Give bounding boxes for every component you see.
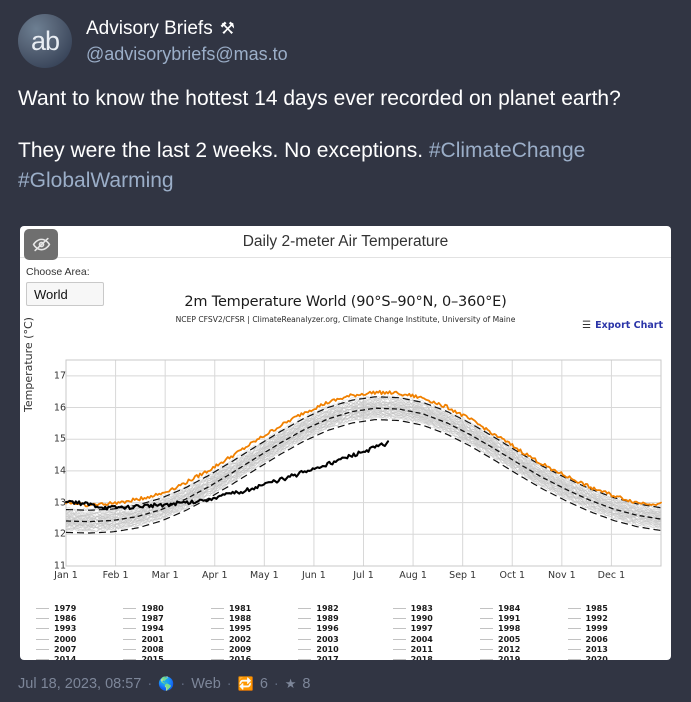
avatar[interactable]: ab <box>18 14 72 68</box>
globe-icon: 🌎 <box>158 676 174 692</box>
legend-label: 1998 <box>498 624 520 633</box>
x-tick-label: May 1 <box>250 570 279 581</box>
legend-label: 1993 <box>54 624 76 633</box>
legend-label: 2017 <box>316 655 338 660</box>
legend-item[interactable]: 2010 <box>298 645 392 654</box>
legend-swatch-icon <box>123 639 136 640</box>
legend-item[interactable]: 1982 <box>298 604 392 613</box>
account-handle[interactable]: @advisorybriefs@mas.to <box>86 41 288 67</box>
y-tick-label: 12 <box>40 529 66 540</box>
legend-swatch-icon <box>298 628 311 629</box>
legend-swatch-icon <box>568 659 581 660</box>
legend-label: 1995 <box>229 624 251 633</box>
legend-label: 2009 <box>229 645 251 654</box>
separator-1: · <box>147 676 152 692</box>
chart-title: 2m Temperature World (90°S–90°N, 0–360°E… <box>20 294 671 310</box>
legend-label: 2010 <box>316 645 338 654</box>
legend-item[interactable]: 2008 <box>123 645 210 654</box>
legend-label: 1989 <box>316 614 338 623</box>
legend-swatch-icon <box>36 608 49 609</box>
legend-swatch-icon <box>123 608 136 609</box>
legend-item[interactable]: 2016 <box>211 655 298 660</box>
legend-label: 1990 <box>411 614 433 623</box>
legend-label: 2019 <box>498 655 520 660</box>
legend-label: 1986 <box>54 614 76 623</box>
legend-item[interactable]: 2014 <box>36 655 123 660</box>
account-identity: Advisory Briefs ⚒ @advisorybriefs@mas.to <box>86 14 288 67</box>
legend-swatch-icon <box>568 618 581 619</box>
legend-item[interactable]: 2003 <box>298 635 392 644</box>
x-tick-label: Oct 1 <box>500 570 526 581</box>
legend-swatch-icon <box>123 659 136 660</box>
legend-label: 1983 <box>411 604 433 613</box>
legend-label: 2008 <box>141 645 163 654</box>
legend-label: 2007 <box>54 645 76 654</box>
legend-label: 1988 <box>229 614 251 623</box>
legend-item[interactable]: 1986 <box>36 614 123 623</box>
avatar-initials: ab <box>31 26 59 57</box>
legend-item[interactable]: 2004 <box>393 635 480 644</box>
chart-inner: Choose Area: World 2m Temperature World … <box>20 258 671 659</box>
chart-topbar-title: Daily 2-meter Air Temperature <box>243 233 449 251</box>
legend-item[interactable]: 1995 <box>211 624 298 633</box>
x-tick-label: Aug 1 <box>399 570 427 581</box>
legend-swatch-icon <box>480 608 493 609</box>
legend-swatch-icon <box>298 639 311 640</box>
chart-legend: 1979198019811982198319841985198619871988… <box>20 604 671 658</box>
y-tick-label: 14 <box>40 465 66 476</box>
legend-item[interactable]: 1988 <box>211 614 298 623</box>
legend-swatch-icon <box>480 639 493 640</box>
legend-item[interactable]: 1980 <box>123 604 210 613</box>
export-chart-label: Export Chart <box>595 320 663 331</box>
legend-swatch-icon <box>393 659 406 660</box>
legend-swatch-icon <box>36 649 49 650</box>
legend-item[interactable]: 2019 <box>480 655 567 660</box>
legend-swatch-icon <box>211 608 224 609</box>
legend-swatch-icon <box>211 618 224 619</box>
legend-swatch-icon <box>568 649 581 650</box>
hamburger-icon: ☰ <box>582 320 591 331</box>
legend-item[interactable]: 1997 <box>393 624 480 633</box>
separator-3: · <box>227 676 232 692</box>
legend-swatch-icon <box>298 618 311 619</box>
legend-item[interactable]: 1984 <box>480 604 567 613</box>
post-paragraph-2: They were the last 2 weeks. No exception… <box>18 136 675 196</box>
post-footer: Jul 18, 2023, 08:57 · 🌎 · Web · 🔁 6 · ★ … <box>18 676 310 692</box>
legend-item[interactable]: 2005 <box>480 635 567 644</box>
legend-label: 2015 <box>141 655 163 660</box>
legend-label: 1997 <box>411 624 433 633</box>
legend-item[interactable]: 1985 <box>568 604 655 613</box>
legend-item[interactable]: 1979 <box>36 604 123 613</box>
legend-label: 1980 <box>141 604 163 613</box>
export-chart-button[interactable]: ☰ Export Chart <box>582 320 663 331</box>
legend-label: 1987 <box>141 614 163 623</box>
legend-item[interactable]: 1994 <box>123 624 210 633</box>
chart-credit: NCEP CFSV2/CFSR | ClimateReanalyzer.org,… <box>20 315 671 324</box>
chart-topbar: Daily 2-meter Air Temperature <box>20 226 671 258</box>
legend-item[interactable]: 2002 <box>211 635 298 644</box>
x-tick-label: Dec 1 <box>598 570 625 581</box>
legend-item[interactable]: 1983 <box>393 604 480 613</box>
legend-item[interactable]: 2012 <box>480 645 567 654</box>
post-paragraph-2-text: They were the last 2 weeks. No exception… <box>18 139 429 162</box>
legend-item[interactable]: 2013 <box>568 645 655 654</box>
legend-swatch-icon <box>393 608 406 609</box>
legend-label: 2003 <box>316 635 338 644</box>
post-source: Web <box>191 676 221 692</box>
legend-label: 2002 <box>229 635 251 644</box>
legend-label: 1991 <box>498 614 520 623</box>
post-timestamp[interactable]: Jul 18, 2023, 08:57 <box>18 676 141 692</box>
legend-swatch-icon <box>480 628 493 629</box>
legend-swatch-icon <box>568 608 581 609</box>
x-tick-label: Feb 1 <box>103 570 129 581</box>
legend-label: 2004 <box>411 635 433 644</box>
legend-swatch-icon <box>211 659 224 660</box>
legend-label: 1982 <box>316 604 338 613</box>
post-header: ab Advisory Briefs ⚒ @advisorybriefs@mas… <box>12 0 679 74</box>
legend-item[interactable]: 1998 <box>480 624 567 633</box>
legend-swatch-icon <box>298 649 311 650</box>
boost-count[interactable]: 6 <box>260 676 268 692</box>
legend-item[interactable]: 2001 <box>123 635 210 644</box>
x-tick-label: Jul 1 <box>353 570 374 581</box>
legend-label: 2013 <box>586 645 608 654</box>
plot-area: Temperature (°C) 11121314151617 Jan 1Feb… <box>20 354 671 594</box>
area-select-value: World <box>34 287 68 302</box>
hashtag-globalwarming[interactable]: #GlobalWarming <box>18 169 174 192</box>
legend-label: 2014 <box>54 655 76 660</box>
legend-swatch-icon <box>393 628 406 629</box>
legend-item[interactable]: 2011 <box>393 645 480 654</box>
legend-label: 1979 <box>54 604 76 613</box>
hashtag-climatechange[interactable]: #ClimateChange <box>429 139 585 162</box>
legend-label: 1994 <box>141 624 163 633</box>
legend-swatch-icon <box>393 649 406 650</box>
legend-label: 1984 <box>498 604 520 613</box>
temperature-line-chart <box>20 354 671 594</box>
x-tick-label: Apr 1 <box>202 570 228 581</box>
y-tick-label: 13 <box>40 497 66 508</box>
separator-4: · <box>274 676 279 692</box>
legend-label: 1999 <box>586 624 608 633</box>
legend-item[interactable]: 1996 <box>298 624 392 633</box>
legend-label: 2000 <box>54 635 76 644</box>
legend-label: 2001 <box>141 635 163 644</box>
hammer-and-wrench-icon: ⚒ <box>220 20 235 37</box>
legend-label: 2006 <box>586 635 608 644</box>
favourite-count[interactable]: 8 <box>302 676 310 692</box>
x-tick-label: Mar 1 <box>152 570 179 581</box>
legend-swatch-icon <box>211 649 224 650</box>
legend-item[interactable]: 2018 <box>393 655 480 660</box>
legend-item[interactable]: 2017 <box>298 655 392 660</box>
legend-swatch-icon <box>36 618 49 619</box>
y-tick-label: 15 <box>40 434 66 445</box>
legend-item[interactable]: 1992 <box>568 614 655 623</box>
legend-swatch-icon <box>393 618 406 619</box>
legend-label: 2005 <box>498 635 520 644</box>
legend-item[interactable]: 1989 <box>298 614 392 623</box>
legend-swatch-icon <box>36 639 49 640</box>
media-attachment-chart[interactable]: Daily 2-meter Air Temperature Choose Are… <box>20 226 671 660</box>
legend-item[interactable]: 1987 <box>123 614 210 623</box>
legend-label: 2020 <box>586 655 608 660</box>
legend-swatch-icon <box>36 659 49 660</box>
legend-swatch-icon <box>480 649 493 650</box>
legend-swatch-icon <box>123 628 136 629</box>
legend-item[interactable]: 1981 <box>211 604 298 613</box>
legend-item[interactable]: 1991 <box>480 614 567 623</box>
legend-swatch-icon <box>480 659 493 660</box>
y-tick-label: 17 <box>40 370 66 381</box>
legend-swatch-icon <box>211 639 224 640</box>
legend-item[interactable]: 1990 <box>393 614 480 623</box>
mastodon-post: ab Advisory Briefs ⚒ @advisorybriefs@mas… <box>0 0 691 702</box>
y-axis-ticks: 11121314151617 <box>38 354 66 566</box>
legend-label: 2011 <box>411 645 433 654</box>
legend-item[interactable]: 1993 <box>36 624 123 633</box>
separator-2: · <box>180 676 185 692</box>
legend-swatch-icon <box>123 649 136 650</box>
legend-label: 1992 <box>586 614 608 623</box>
legend-item[interactable]: 2009 <box>211 645 298 654</box>
legend-swatch-icon <box>36 628 49 629</box>
legend-label: 1996 <box>316 624 338 633</box>
legend-item[interactable]: 2015 <box>123 655 210 660</box>
legend-swatch-icon <box>298 608 311 609</box>
y-axis-label: Temperature (°C) <box>22 317 35 412</box>
eye-slash-icon[interactable] <box>24 229 58 260</box>
legend-swatch-icon <box>480 618 493 619</box>
choose-area-control: Choose Area: World <box>26 266 104 306</box>
legend-swatch-icon <box>568 628 581 629</box>
display-name: Advisory Briefs <box>86 16 213 41</box>
x-tick-label: Nov 1 <box>548 570 576 581</box>
boost-icon[interactable]: 🔁 <box>238 676 254 692</box>
x-tick-label: Jun 1 <box>302 570 326 581</box>
legend-item[interactable]: 2020 <box>568 655 655 660</box>
legend-item[interactable]: 1999 <box>568 624 655 633</box>
legend-item[interactable]: 2006 <box>568 635 655 644</box>
legend-swatch-icon <box>568 639 581 640</box>
legend-swatch-icon <box>298 659 311 660</box>
legend-swatch-icon <box>123 618 136 619</box>
choose-area-label: Choose Area: <box>26 266 104 278</box>
legend-item[interactable]: 2000 <box>36 635 123 644</box>
legend-label: 1981 <box>229 604 251 613</box>
x-tick-label: Jan 1 <box>54 570 78 581</box>
legend-item[interactable]: 2007 <box>36 645 123 654</box>
display-name-row[interactable]: Advisory Briefs ⚒ <box>86 16 288 41</box>
chart-heading: 2m Temperature World (90°S–90°N, 0–360°E… <box>20 258 671 324</box>
x-tick-label: Sep 1 <box>449 570 476 581</box>
legend-label: 2012 <box>498 645 520 654</box>
legend-swatch-icon <box>211 628 224 629</box>
legend-label: 2016 <box>229 655 251 660</box>
post-content: Want to know the hottest 14 days ever re… <box>12 74 679 196</box>
y-tick-label: 16 <box>40 402 66 413</box>
area-select[interactable]: World <box>26 282 104 306</box>
post-paragraph-1: Want to know the hottest 14 days ever re… <box>18 84 675 114</box>
legend-label: 2018 <box>411 655 433 660</box>
legend-swatch-icon <box>393 639 406 640</box>
legend-label: 1985 <box>586 604 608 613</box>
star-icon[interactable]: ★ <box>285 676 297 692</box>
